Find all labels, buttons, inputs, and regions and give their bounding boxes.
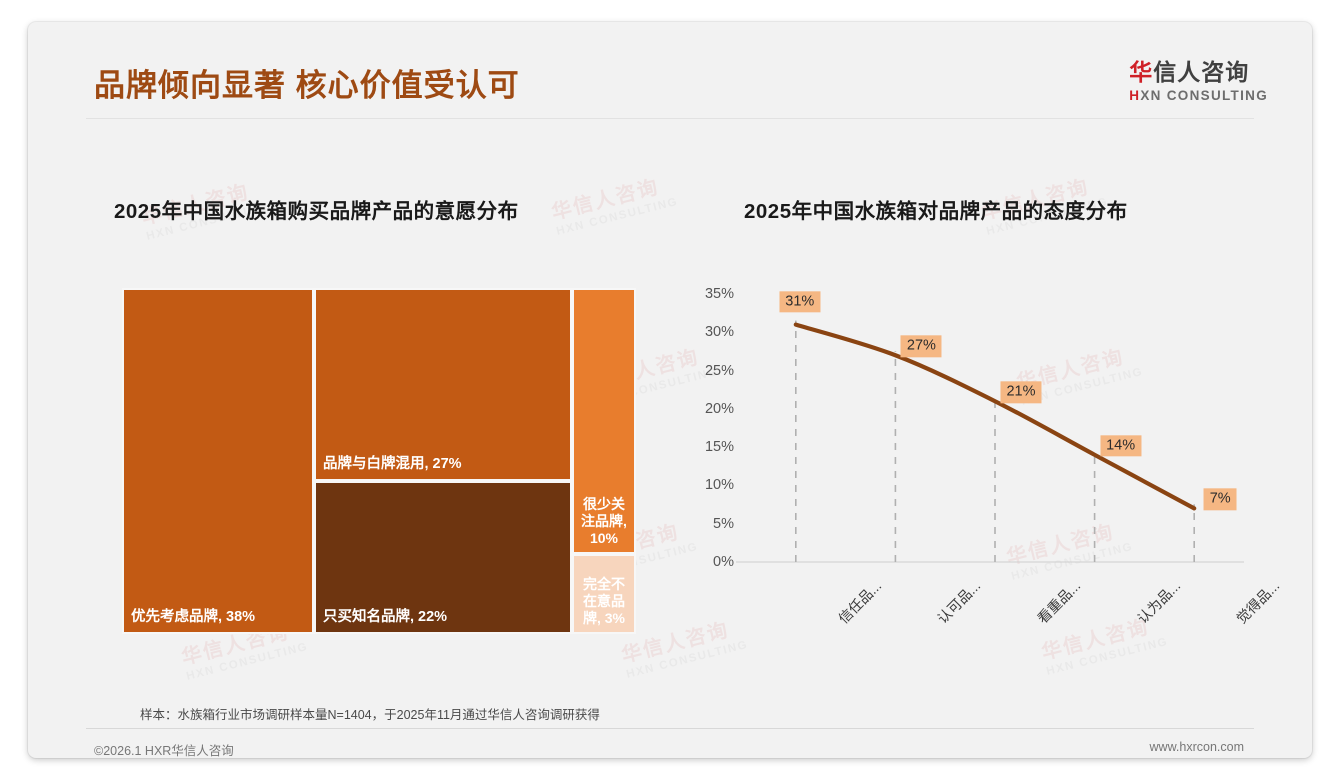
treemap-cell[interactable]: 品牌与白牌混用, 27% [314,288,572,481]
left-chart-title: 2025年中国水族箱购买品牌产品的意愿分布 [114,194,519,224]
treemap-cell[interactable]: 优先考虑品牌, 38% [122,288,314,634]
logo-english-rest: XN CONSULTING [1140,88,1268,103]
header-divider [86,118,1254,119]
footer-divider [86,728,1254,729]
slide-header: 品牌倾向显著 核心价值受认可 华信人咨询 HXN CONSULTING [28,22,1312,118]
treemap-cell-label: 完全不在意品牌, 3% [578,576,630,627]
treemap-cell-label: 品牌与白牌混用, 27% [323,456,565,474]
treemap-cell[interactable]: 完全不在意品牌, 3% [572,554,636,634]
treemap-cell-label: 只买知名品牌, 22% [323,609,565,627]
data-point-label: 7% [1204,489,1237,511]
logo-english-accent: H [1129,88,1140,103]
data-point-label: 31% [779,291,820,313]
left-chart-panel: 2025年中国水族箱购买品牌产品的意愿分布 优先考虑品牌, 38%品牌与白牌混用… [86,172,646,642]
treemap-cell-label: 很少关注品牌, 10% [578,496,630,547]
brand-logo: 华信人咨询 HXN CONSULTING [1129,60,1268,103]
right-chart-title: 2025年中国水族箱对品牌产品的态度分布 [744,194,1128,224]
page-title: 品牌倾向显著 核心价值受认可 [94,60,520,105]
source-note: 样本：水族箱行业市场调研样本量N=1404，于2025年11月通过华信人咨询调研… [140,704,600,723]
footer-website: www.hxrcon.com [1150,740,1244,754]
treemap-cell[interactable]: 只买知名品牌, 22% [314,481,572,634]
logo-chinese-rest: 信人咨询 [1153,59,1249,85]
data-point-label: 14% [1100,435,1141,457]
treemap-chart: 优先考虑品牌, 38%品牌与白牌混用, 27%只买知名品牌, 22%很少关注品牌… [122,288,636,634]
footer-copyright: ©2026.1 HXR华信人咨询 [94,740,234,758]
data-point-label: 27% [901,336,942,358]
treemap-cell[interactable]: 很少关注品牌, 10% [572,288,636,554]
logo-chinese: 华信人咨询 [1129,60,1268,84]
treemap-cell-label: 优先考虑品牌, 38% [131,609,307,627]
data-point-label: 21% [1000,382,1041,404]
right-chart-panel: 2025年中国水族箱对品牌产品的态度分布 0%5%10%15%20%25%30%… [668,172,1268,642]
logo-english: HXN CONSULTING [1129,88,1268,103]
line-chart: 0%5%10%15%20%25%30%35%31%27%21%14%7%信任品.… [678,272,1268,632]
logo-chinese-accent: 华 [1129,59,1153,85]
slide-canvas: 华信人咨询HXN CONSULTING华信人咨询HXN CONSULTING华信… [28,22,1312,758]
